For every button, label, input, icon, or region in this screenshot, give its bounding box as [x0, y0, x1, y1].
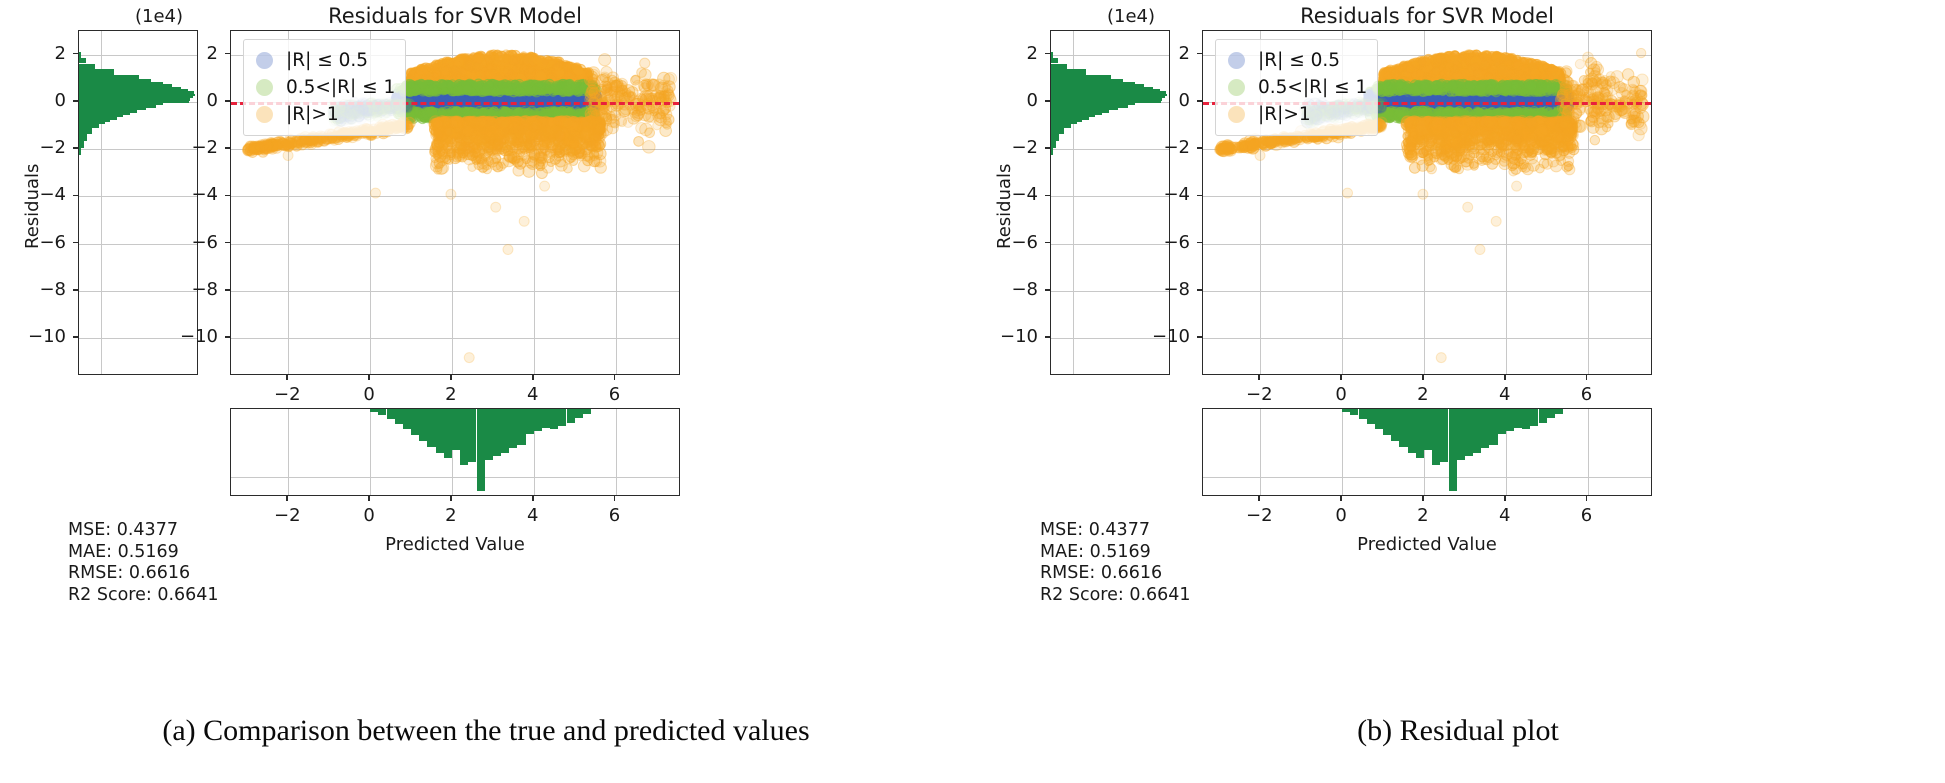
histogram-bar	[558, 409, 566, 426]
histogram-bar	[427, 409, 435, 447]
histogram-bar	[444, 409, 452, 458]
histogram-bar	[517, 409, 525, 445]
exponent-label: (1e4)	[1107, 6, 1155, 27]
y-tick-label: −2	[160, 137, 218, 158]
x-tick-label: 4	[503, 384, 563, 405]
histogram-bar	[79, 134, 87, 141]
legend-item: |R| ≤ 0.5	[252, 47, 395, 74]
scatter-axes: |R| ≤ 0.50.5<|R| ≤ 1|R|>1	[230, 30, 680, 375]
x-tick-label: 0	[1311, 505, 1371, 526]
x-tick-label: 2	[1393, 505, 1453, 526]
x-tick-label: −2	[1229, 505, 1289, 526]
y-tick-mark	[1045, 53, 1050, 55]
legend: |R| ≤ 0.50.5<|R| ≤ 1|R|>1	[243, 39, 406, 136]
x-tick-mark	[1258, 375, 1260, 380]
histogram-bar	[1391, 409, 1399, 441]
exponent-label: (1e4)	[135, 6, 183, 27]
x-tick-mark	[1504, 496, 1506, 501]
histogram-bar	[1465, 409, 1473, 456]
y-tick-mark	[1045, 336, 1050, 338]
histogram-bar	[378, 409, 386, 415]
x-tick-label: 2	[421, 384, 481, 405]
plot-title: Residuals for SVR Model	[1182, 4, 1672, 28]
legend-item: 0.5<|R| ≤ 1	[1224, 74, 1367, 101]
y-tick-label: 2	[160, 43, 218, 64]
histogram-bar	[1449, 409, 1457, 491]
legend-label: |R|>1	[1258, 104, 1311, 125]
legend-item: |R|>1	[1224, 101, 1367, 128]
histogram-bar	[370, 409, 378, 412]
gridline-vertical	[1342, 409, 1343, 495]
y-tick-label: −6	[8, 232, 66, 253]
x-tick-mark	[1504, 375, 1506, 380]
histogram-bar	[567, 409, 575, 423]
metric-line: MAE: 0.5169	[1040, 542, 1191, 564]
y-tick-label: −4	[1132, 184, 1190, 205]
y-tick-mark	[1045, 242, 1050, 244]
histogram-bar	[534, 409, 542, 431]
y-tick-label: −6	[160, 232, 218, 253]
legend-label: |R| ≤ 0.5	[1258, 50, 1340, 71]
legend-item: |R|>1	[252, 101, 395, 128]
x-tick-label: 2	[1393, 384, 1453, 405]
x-tick-mark	[1586, 496, 1588, 501]
x-tick-label: 4	[1475, 505, 1535, 526]
panel-b: Residuals for SVR Model(1e4)ResidualsPre…	[972, 0, 1944, 783]
predicted-histogram-axes	[1202, 408, 1652, 496]
sub-caption: (b) Residual plot	[972, 714, 1944, 748]
legend-item: 0.5<|R| ≤ 1	[252, 74, 395, 101]
panel-a: Residuals for SVR Model(1e4)ResidualsPre…	[0, 0, 972, 783]
y-tick-label: −8	[980, 279, 1038, 300]
metric-line: R2 Score: 0.6641	[68, 585, 219, 607]
histogram-bar	[1489, 409, 1497, 445]
histogram-bar	[79, 141, 84, 148]
y-tick-label: 0	[980, 90, 1038, 111]
histogram-bar	[395, 409, 403, 424]
y-tick-mark	[73, 195, 78, 197]
legend-swatch-2	[256, 79, 273, 96]
y-tick-label: −4	[160, 184, 218, 205]
histogram-bar	[1367, 409, 1375, 424]
x-tick-mark	[614, 496, 616, 501]
plot-title: Residuals for SVR Model	[210, 4, 700, 28]
y-tick-label: −8	[8, 279, 66, 300]
x-tick-mark	[532, 496, 534, 501]
histogram-bar	[1498, 409, 1506, 434]
y-tick-label: 0	[160, 90, 218, 111]
x-tick-label: −2	[257, 505, 317, 526]
y-tick-mark	[1197, 147, 1202, 149]
y-tick-mark	[1045, 195, 1050, 197]
y-tick-label: −8	[160, 279, 218, 300]
histogram-bar	[468, 409, 476, 462]
legend-swatch-3	[1228, 106, 1245, 123]
metric-line: RMSE: 0.6616	[68, 563, 219, 585]
x-tick-label: −2	[257, 384, 317, 405]
histogram-bar	[452, 409, 460, 450]
histogram-bar	[387, 409, 395, 419]
y-tick-mark	[1197, 53, 1202, 55]
histogram-bar	[583, 409, 591, 414]
legend-swatch-2	[1228, 79, 1245, 96]
y-tick-label: 2	[1132, 43, 1190, 64]
histogram-bar	[1530, 409, 1538, 426]
y-tick-mark	[73, 53, 78, 55]
x-tick-mark	[286, 496, 288, 501]
x-tick-label: 0	[339, 384, 399, 405]
x-axis-label: Predicted Value	[230, 534, 680, 555]
x-tick-label: 6	[1557, 505, 1617, 526]
x-tick-mark	[532, 375, 534, 380]
histogram-bar	[509, 409, 517, 448]
y-tick-mark	[225, 195, 230, 197]
histogram-bar	[411, 409, 419, 435]
x-tick-label: −2	[1229, 384, 1289, 405]
y-tick-label: −6	[980, 232, 1038, 253]
y-tick-mark	[225, 289, 230, 291]
y-tick-mark	[225, 336, 230, 338]
x-tick-mark	[1258, 496, 1260, 501]
y-tick-label: −2	[980, 137, 1038, 158]
x-tick-label: 6	[585, 384, 645, 405]
y-tick-mark	[1045, 100, 1050, 102]
histogram-bar	[1432, 409, 1440, 465]
y-tick-mark	[225, 53, 230, 55]
legend-label: 0.5<|R| ≤ 1	[286, 77, 395, 98]
y-tick-mark	[225, 100, 230, 102]
gridline-vertical	[370, 409, 371, 495]
histogram-bar	[526, 409, 534, 434]
x-tick-mark	[1340, 496, 1342, 501]
histogram-bar	[1375, 409, 1383, 429]
y-tick-mark	[1197, 195, 1202, 197]
y-tick-label: 0	[8, 90, 66, 111]
metrics-block: MSE: 0.4377MAE: 0.5169RMSE: 0.6616R2 Sco…	[68, 520, 219, 606]
legend-swatch-1	[1228, 52, 1245, 69]
y-tick-mark	[1197, 289, 1202, 291]
y-tick-label: −2	[1132, 137, 1190, 158]
x-tick-label: 4	[1475, 384, 1535, 405]
metrics-block: MSE: 0.4377MAE: 0.5169RMSE: 0.6616R2 Sco…	[1040, 520, 1191, 606]
y-tick-mark	[73, 100, 78, 102]
x-tick-mark	[1422, 375, 1424, 380]
histogram-bar	[419, 409, 427, 441]
histogram-bar	[575, 409, 583, 418]
x-tick-label: 0	[1311, 384, 1371, 405]
x-tick-mark	[1586, 375, 1588, 380]
gridline-vertical	[1260, 409, 1261, 495]
x-tick-mark	[286, 375, 288, 380]
histogram-bar	[1457, 409, 1465, 460]
y-tick-mark	[1045, 147, 1050, 149]
histogram-bar	[1440, 409, 1448, 462]
scatter-axes: |R| ≤ 0.50.5<|R| ≤ 1|R|>1	[1202, 30, 1652, 375]
x-tick-mark	[368, 375, 370, 380]
x-tick-label: 0	[339, 505, 399, 526]
x-tick-label: 6	[585, 505, 645, 526]
histogram-bar	[1539, 409, 1547, 423]
y-tick-label: 2	[8, 43, 66, 64]
histogram-bar	[1051, 134, 1059, 141]
histogram-bar	[1408, 409, 1416, 453]
histogram-bar	[542, 409, 550, 428]
histogram-bar	[1473, 409, 1481, 453]
histogram-bar	[1547, 409, 1555, 418]
y-tick-mark	[1197, 336, 1202, 338]
histogram-bar	[1424, 409, 1432, 450]
legend-label: |R| ≤ 0.5	[286, 50, 368, 71]
histogram-bar	[1383, 409, 1391, 435]
histogram-bar	[1555, 409, 1563, 414]
y-tick-label: −8	[1132, 279, 1190, 300]
histogram-bar	[1514, 409, 1522, 428]
y-tick-mark	[225, 242, 230, 244]
y-tick-label: −6	[1132, 232, 1190, 253]
y-tick-mark	[1197, 100, 1202, 102]
y-tick-label: −10	[8, 326, 66, 347]
x-tick-mark	[1340, 375, 1342, 380]
gridline-horizontal	[1203, 477, 1651, 478]
histogram-bar	[460, 409, 468, 465]
y-tick-mark	[73, 147, 78, 149]
y-tick-mark	[225, 147, 230, 149]
histogram-bar	[1342, 409, 1350, 412]
legend: |R| ≤ 0.50.5<|R| ≤ 1|R|>1	[1215, 39, 1378, 136]
histogram-bar	[1399, 409, 1407, 447]
legend-swatch-3	[256, 106, 273, 123]
x-tick-mark	[1422, 496, 1424, 501]
x-tick-mark	[368, 496, 370, 501]
histogram-bar	[485, 409, 493, 460]
legend-item: |R| ≤ 0.5	[1224, 47, 1367, 74]
y-tick-label: −10	[160, 326, 218, 347]
histogram-bar	[436, 409, 444, 453]
legend-label: 0.5<|R| ≤ 1	[1258, 77, 1367, 98]
x-tick-label: 2	[421, 505, 481, 526]
x-tick-mark	[450, 496, 452, 501]
y-tick-label: 2	[980, 43, 1038, 64]
y-tick-mark	[73, 289, 78, 291]
y-tick-mark	[1045, 289, 1050, 291]
figure-root: Residuals for SVR Model(1e4)ResidualsPre…	[0, 0, 1945, 783]
y-tick-mark	[1197, 242, 1202, 244]
histogram-bar	[1416, 409, 1424, 458]
y-tick-label: 0	[1132, 90, 1190, 111]
x-axis-label: Predicted Value	[1202, 534, 1652, 555]
y-tick-label: −4	[980, 184, 1038, 205]
y-tick-mark	[73, 336, 78, 338]
y-tick-label: −10	[980, 326, 1038, 347]
x-tick-label: 6	[1557, 384, 1617, 405]
gridline-horizontal	[231, 477, 679, 478]
histogram-bar	[1359, 409, 1367, 419]
metric-line: MSE: 0.4377	[1040, 520, 1191, 542]
x-tick-mark	[614, 375, 616, 380]
histogram-bar	[1051, 148, 1053, 155]
gridline-vertical	[1588, 409, 1589, 495]
metric-line: MAE: 0.5169	[68, 542, 219, 564]
y-tick-label: −10	[1132, 326, 1190, 347]
metric-line: R2 Score: 0.6641	[1040, 585, 1191, 607]
metric-line: RMSE: 0.6616	[1040, 563, 1191, 585]
histogram-bar	[550, 409, 558, 429]
x-tick-mark	[450, 375, 452, 380]
legend-label: |R|>1	[286, 104, 339, 125]
gridline-vertical	[288, 409, 289, 495]
metric-line: MSE: 0.4377	[68, 520, 219, 542]
histogram-bar	[501, 409, 509, 453]
predicted-histogram-axes	[230, 408, 680, 496]
x-tick-label: 4	[503, 505, 563, 526]
sub-caption: (a) Comparison between the true and pred…	[0, 714, 972, 748]
histogram-bar	[1506, 409, 1514, 431]
histogram-bar	[477, 409, 485, 491]
histogram-bar	[403, 409, 411, 429]
histogram-bar	[493, 409, 501, 456]
histogram-bar	[1481, 409, 1489, 448]
gridline-vertical	[616, 409, 617, 495]
histogram-bar	[1350, 409, 1358, 415]
y-tick-mark	[73, 242, 78, 244]
legend-swatch-1	[256, 52, 273, 69]
y-tick-label: −2	[8, 137, 66, 158]
y-tick-label: −4	[8, 184, 66, 205]
histogram-bar	[79, 148, 81, 155]
histogram-bar	[1051, 141, 1056, 148]
histogram-bar	[1522, 409, 1530, 429]
